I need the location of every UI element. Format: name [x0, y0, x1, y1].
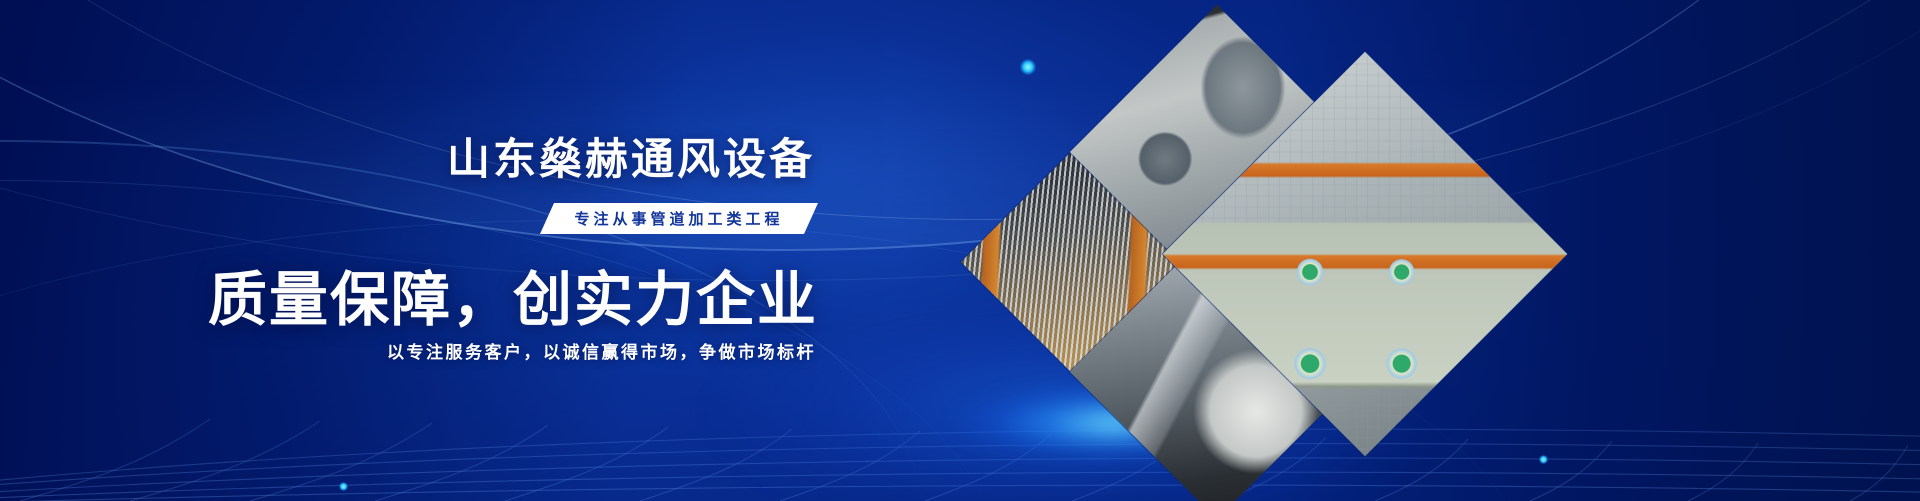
hero-banner: 山东燊赫通风设备 专注从事管道加工类工程 质量保障，创实力企业 以专注服务客户，… [0, 0, 1920, 501]
spark-lower-right-icon [1539, 455, 1548, 464]
headline: 质量保障，创实力企业 [208, 252, 818, 337]
focus-badge: 专注从事管道加工类工程 [540, 203, 818, 234]
focus-badge-label: 专注从事管道加工类工程 [574, 208, 783, 229]
company-title: 山东燊赫通风设备 [447, 125, 815, 187]
tagline: 以专注服务客户，以诚信赢得市场，争做市场标杆 [387, 338, 816, 363]
banner-copy-block: 山东燊赫通风设备 专注从事管道加工类工程 质量保障，创实力企业 以专注服务客户，… [0, 0, 1000, 501]
diamond-photo-collage [1000, 48, 1430, 460]
